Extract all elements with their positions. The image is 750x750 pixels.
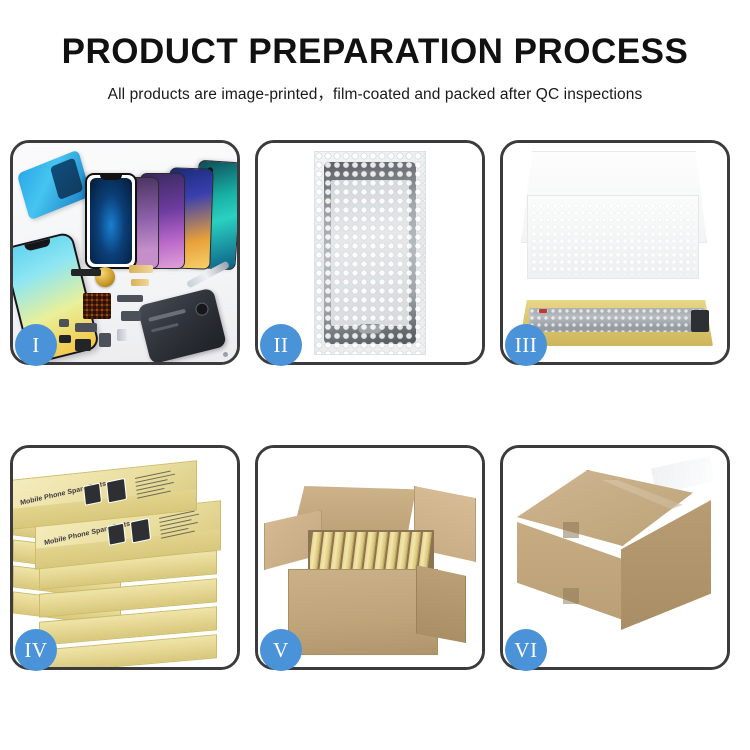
phone-back-housing-icon [137, 287, 227, 362]
part-connector-1 [71, 269, 101, 276]
carton-front-face [288, 569, 438, 655]
wrapped-screen-icon [324, 162, 416, 344]
carton-side-face [416, 565, 466, 643]
part-small-2 [59, 335, 71, 343]
phone-display-fan [65, 149, 237, 269]
carton-seam-top [563, 522, 579, 538]
part-small-1 [59, 319, 69, 327]
step-badge-4: IV [15, 629, 57, 671]
process-step-5: V [255, 445, 485, 670]
part-module-1 [75, 323, 97, 332]
part-speaker [75, 339, 91, 351]
screen-connector-icon [691, 310, 709, 332]
part-flex-cable-3 [117, 295, 143, 302]
step-badge-1: I [15, 324, 57, 366]
packed-screen-icon [529, 308, 705, 332]
step-badge-6: VI [505, 629, 547, 671]
process-step-2: II [255, 140, 485, 365]
bubble-wrap-icon [314, 151, 426, 355]
process-step-1: I [10, 140, 240, 365]
foam-padding-icon [531, 203, 695, 275]
box-label-image-a1 [83, 483, 102, 506]
process-steps-grid: I II [10, 140, 740, 670]
header: PRODUCT PREPARATION PROCESS All products… [0, 0, 750, 104]
part-camera [99, 333, 111, 347]
step-badge-3: III [505, 324, 547, 366]
step-badge-2: II [260, 324, 302, 366]
carton-seam-bottom [563, 588, 579, 604]
product-preparation-infographic: PRODUCT PREPARATION PROCESS All products… [0, 0, 750, 750]
process-step-3: III [500, 140, 730, 365]
box-label-image-b2 [130, 518, 151, 544]
process-step-4: Mobile Phone Spare Parts Mobile Phone Sp… [10, 445, 240, 670]
phone-display-1 [85, 173, 137, 269]
page-subtitle: All products are image-printed，film-coat… [0, 82, 750, 104]
box-label-image-a2 [107, 523, 126, 546]
step-badge-5: V [260, 629, 302, 671]
chip-grid-icon [83, 293, 111, 319]
red-label-icon [539, 309, 547, 313]
part-flex-cable-1 [129, 265, 153, 273]
part-flex-cable-2 [131, 279, 149, 286]
part-sensor [117, 329, 127, 341]
box-label-image-b1 [106, 478, 127, 504]
part-module-2 [121, 311, 141, 321]
page-title: PRODUCT PREPARATION PROCESS [0, 34, 750, 71]
process-step-6: VI [500, 445, 730, 670]
